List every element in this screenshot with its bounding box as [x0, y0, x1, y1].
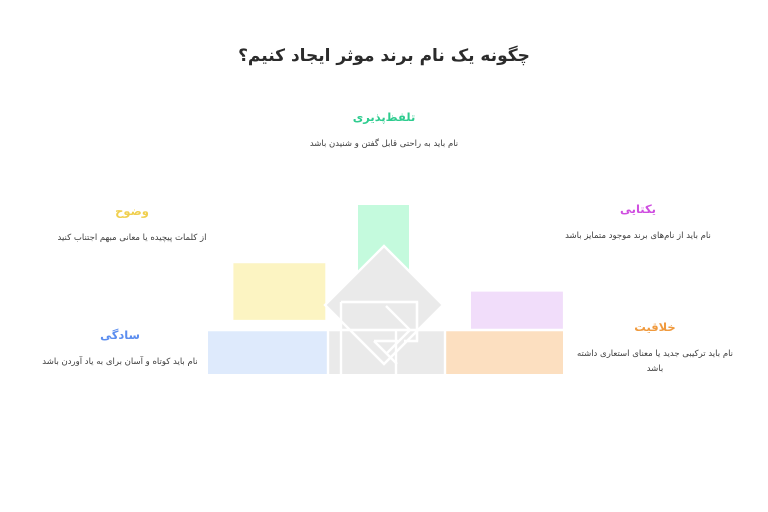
node-clarity-heading: وضوح	[34, 204, 230, 218]
node-creativity[interactable]: خلاقیت نام باید ترکیبی جدید یا معنای است…	[570, 320, 740, 377]
bar-creativity	[445, 330, 563, 374]
node-creativity-description: نام باید ترکیبی جدید یا معنای استعاری دا…	[570, 347, 740, 377]
bar-pronounceability	[358, 205, 409, 301]
hub-diamond	[325, 246, 443, 364]
hub-arrow-head-1	[386, 306, 410, 354]
hub-arrow-outline-3	[341, 302, 417, 341]
hub-block-lower	[396, 330, 446, 374]
hub-block-left	[328, 330, 396, 374]
node-uniqueness[interactable]: یکتایی نام باید از نام‌های برند موجود مت…	[538, 202, 738, 244]
node-uniqueness-heading: یکتایی	[538, 202, 738, 216]
hub-arrow-tail	[374, 341, 397, 364]
node-simplicity[interactable]: سادگی نام باید کوتاه و آسان برای به یاد …	[34, 328, 206, 370]
bar-uniqueness	[443, 246, 591, 394]
hub-block-upper	[341, 302, 417, 374]
node-simplicity-heading: سادگی	[34, 328, 206, 342]
node-pronounceability[interactable]: تلفظ‌پذیری نام باید به راحتی قابل گفتن و…	[243, 110, 525, 152]
bar-simplicity	[208, 330, 328, 374]
node-clarity[interactable]: وضوح از کلمات پیچیده یا معانی مبهم اجتنا…	[34, 204, 230, 246]
slide-canvas: چگونه یک نام برند موثر ایجاد کنیم؟	[0, 0, 768, 512]
node-creativity-heading: خلاقیت	[570, 320, 740, 334]
hub-group	[325, 246, 446, 374]
pinwheel-diagram	[0, 0, 768, 512]
node-uniqueness-description: نام باید از نام‌های برند موجود متمایز با…	[538, 229, 738, 243]
node-pronounceability-heading: تلفظ‌پذیری	[243, 110, 525, 124]
hub-arrow-outline-1	[325, 246, 443, 364]
node-pronounceability-description: نام باید به راحتی قابل گفتن و شنیدن باشد	[243, 137, 525, 151]
node-simplicity-description: نام باید کوتاه و آسان برای به یاد آوردن …	[34, 355, 206, 369]
node-clarity-description: از کلمات پیچیده یا معانی مبهم اجتناب کنی…	[34, 231, 230, 245]
page-title: چگونه یک نام برند موثر ایجاد کنیم؟	[0, 46, 768, 66]
